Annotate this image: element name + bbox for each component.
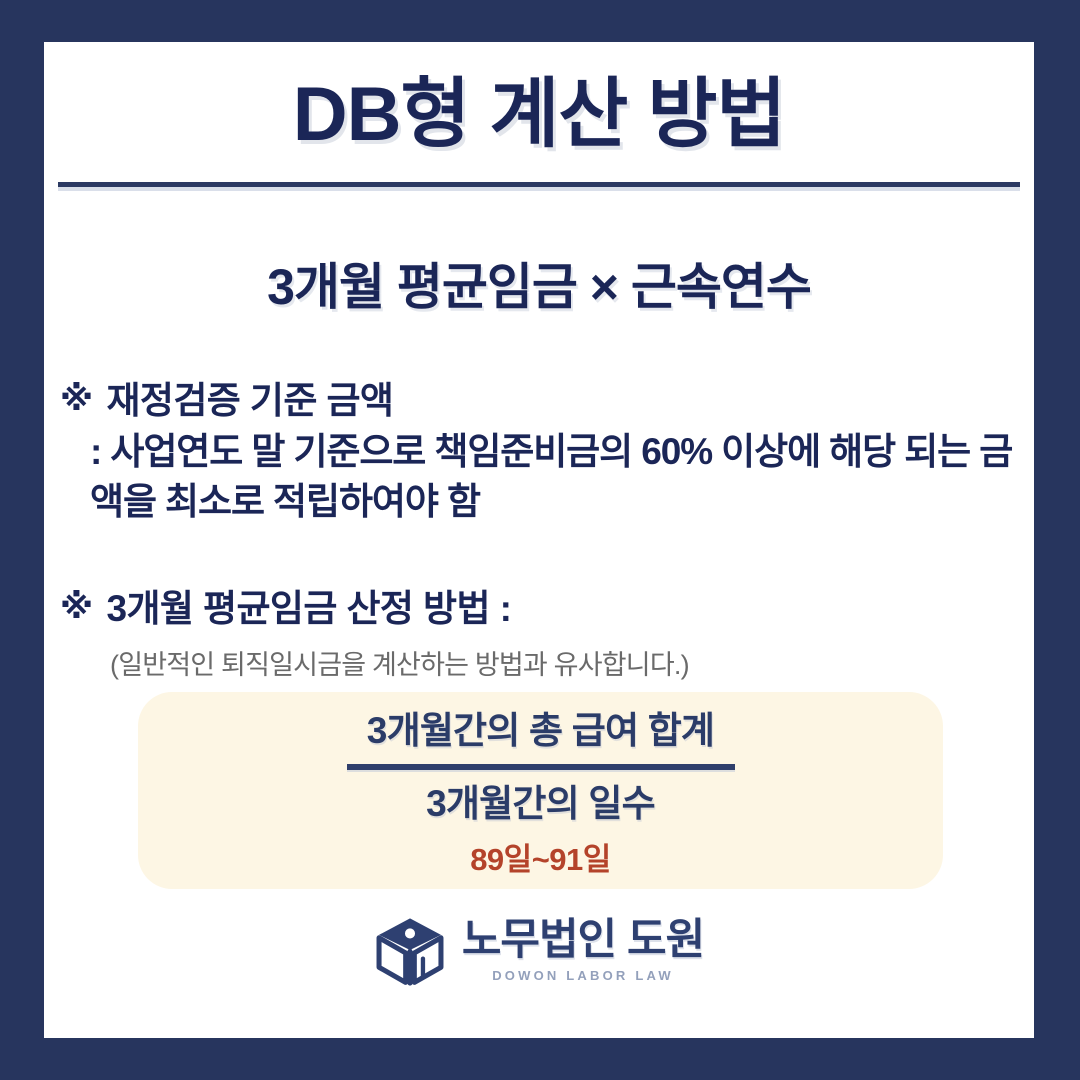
body-part-lead: : 사업연도 말 기준으로 책임준비금의	[90, 431, 641, 472]
formula-headline: 3개월 평균임금 × 근속연수	[44, 247, 1034, 319]
fraction-numerator: 3개월간의 총 급여 합계	[367, 706, 714, 756]
fraction-range-label: 89일~91일	[470, 834, 611, 879]
section-financial-verification: ※ 재정검증 기준 금액 : 사업연도 말 기준으로 책임준비금의 60% 이상…	[60, 377, 1020, 526]
fraction-bar	[347, 764, 735, 770]
poster-frame: DB형 계산 방법 3개월 평균임금 × 근속연수 ※ 재정검증 기준 금액 :…	[0, 0, 1080, 1080]
title-divider	[58, 182, 1020, 187]
bullet-heading-row: ※ 3개월 평균임금 산정 방법 :	[60, 585, 1020, 633]
logo-name-english: DOWON LABOR LAW	[492, 969, 674, 982]
fraction-callout-box: 3개월간의 총 급여 합계 3개월간의 일수 89일~91일	[138, 692, 943, 889]
logo-name-korean: 노무법인 도원	[462, 919, 704, 962]
bullet-heading-row: ※ 재정검증 기준 금액	[60, 377, 1020, 425]
reference-mark-icon: ※	[60, 585, 92, 631]
page-title: DB형 계산 방법	[44, 70, 1034, 160]
reference-mark-icon: ※	[60, 377, 92, 423]
bullet-body-text: : 사업연도 말 기준으로 책임준비금의 60% 이상에 해당 되는 금액을 최…	[60, 427, 1020, 526]
title-block: DB형 계산 방법	[44, 70, 1034, 160]
section-average-wage-method: ※ 3개월 평균임금 산정 방법 : (일반적인 퇴직일시금을 계산하는 방법과…	[60, 585, 1020, 682]
fraction-denominator: 3개월간의 일수	[426, 780, 655, 828]
body-part-emphasis: 60% 이상	[641, 431, 787, 472]
logo-wordmark: 노무법인 도원 DOWON LABOR LAW	[462, 919, 704, 982]
parenthetical-note: (일반적인 퇴직일시금을 계산하는 방법과 유사합니다.)	[60, 643, 1020, 682]
bullet-heading-text: 재정검증 기준 금액	[106, 377, 1020, 425]
cube-book-icon	[374, 914, 446, 986]
bullet-heading-text: 3개월 평균임금 산정 방법 :	[106, 585, 1020, 633]
brand-logo: 노무법인 도원 DOWON LABOR LAW	[44, 914, 1034, 986]
content-card: DB형 계산 방법 3개월 평균임금 × 근속연수 ※ 재정검증 기준 금액 :…	[44, 42, 1034, 1038]
